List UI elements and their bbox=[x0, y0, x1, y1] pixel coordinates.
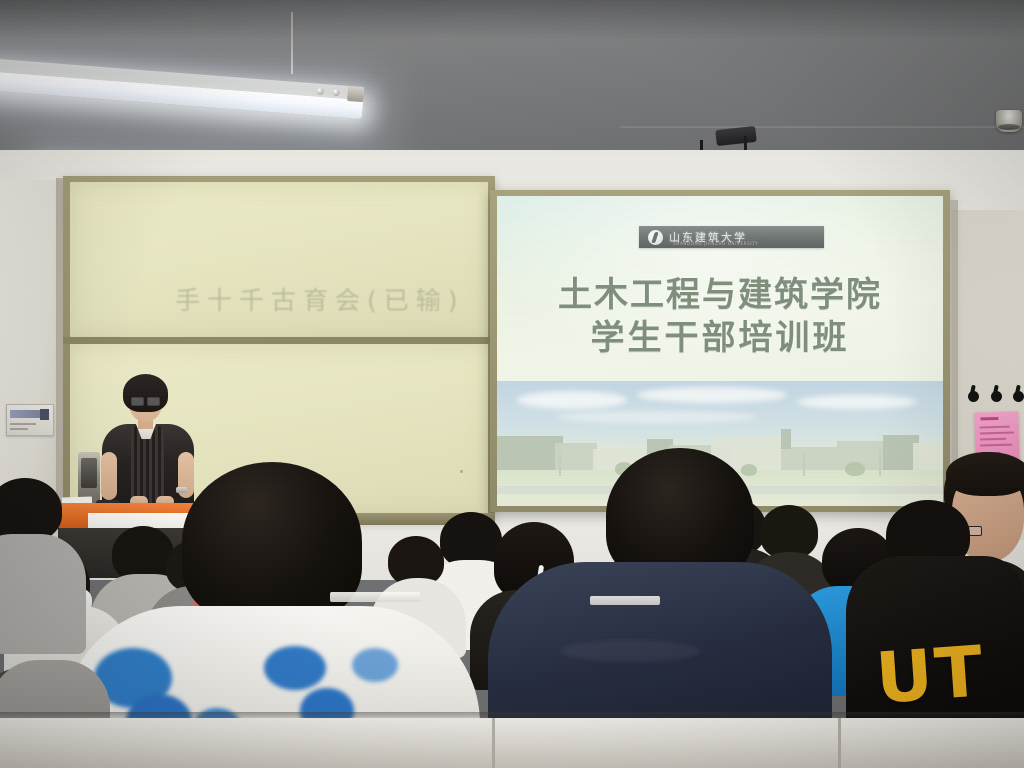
presenter-wristwatch bbox=[176, 487, 187, 493]
slide-title-line2: 学生干部培训班 bbox=[497, 317, 943, 360]
lamp-post bbox=[559, 452, 561, 476]
campus-building bbox=[781, 447, 841, 471]
light-end-cap bbox=[347, 86, 364, 102]
desk-edge bbox=[590, 596, 660, 605]
campus-tree bbox=[845, 462, 865, 476]
cloud bbox=[637, 387, 787, 403]
university-emblem-icon bbox=[648, 230, 663, 245]
student-back-head bbox=[760, 505, 818, 559]
panel-line bbox=[10, 428, 28, 430]
lamp-post bbox=[803, 452, 805, 476]
lamp-post bbox=[879, 450, 881, 476]
glasses-icon bbox=[131, 397, 160, 404]
cloud bbox=[557, 411, 757, 423]
ceiling-sprinkler-icon bbox=[996, 110, 1022, 132]
campus-tree bbox=[741, 464, 757, 476]
shirt-pattern-blob bbox=[352, 648, 398, 682]
notice-line bbox=[980, 444, 1012, 447]
desk-edge bbox=[330, 592, 420, 602]
desk-seam bbox=[492, 718, 495, 768]
slide-title: 土木工程与建筑学院 学生干部培训班 bbox=[497, 274, 943, 360]
campus-building bbox=[497, 436, 563, 470]
wall-hook-icon[interactable] bbox=[968, 391, 979, 402]
campus-building bbox=[913, 443, 943, 471]
device-screen bbox=[81, 458, 97, 488]
campus-building bbox=[555, 443, 597, 471]
ceiling-seam bbox=[620, 126, 1024, 128]
cloud bbox=[797, 395, 917, 409]
whiteboard-faint-writing: 手十千古育会(已输) bbox=[175, 281, 455, 317]
student-grey-left-body bbox=[0, 534, 86, 654]
university-logo-bar: 山东建筑大学 SHANDONG JIANZHU UNIVERSITY bbox=[639, 226, 824, 248]
wall-control-panel[interactable] bbox=[6, 404, 54, 436]
ceiling-shadow bbox=[0, 0, 1024, 40]
light-hanger-rod bbox=[291, 12, 293, 74]
cloud bbox=[517, 391, 627, 409]
wall-hook-icon[interactable] bbox=[991, 391, 1002, 402]
notice-heading bbox=[980, 417, 998, 420]
desk-seam bbox=[838, 718, 841, 768]
notice-line bbox=[980, 426, 1010, 429]
presenter-arm-left bbox=[101, 452, 117, 500]
classroom-photo: 手十千古育会(已输) 山东建筑大学 SHANDONG JIANZHU UNIVE… bbox=[0, 0, 1024, 768]
wall-hook-icon[interactable] bbox=[1013, 391, 1024, 402]
university-name-english: SHANDONG JIANZHU UNIVERSITY bbox=[673, 241, 759, 246]
sprinkler-rim bbox=[998, 124, 1020, 130]
notice-line bbox=[980, 438, 1006, 441]
slide-title-line1: 土木工程与建筑学院 bbox=[497, 274, 943, 317]
panel-display-strip bbox=[10, 410, 40, 418]
panel-line bbox=[10, 423, 36, 425]
shirt-pattern-blob bbox=[264, 646, 326, 690]
jacket-letters: UT bbox=[874, 636, 987, 713]
panel-indicator bbox=[40, 409, 49, 420]
student-desk-row bbox=[0, 718, 1024, 768]
whiteboard-divider bbox=[63, 337, 495, 344]
campus-tower bbox=[781, 429, 791, 449]
presenter-hair bbox=[123, 374, 168, 412]
student-glasses-right-hair-top bbox=[946, 452, 1024, 496]
whiteboard-mark bbox=[460, 470, 463, 473]
notice-line bbox=[980, 432, 1014, 435]
jacket-fold bbox=[560, 640, 700, 662]
